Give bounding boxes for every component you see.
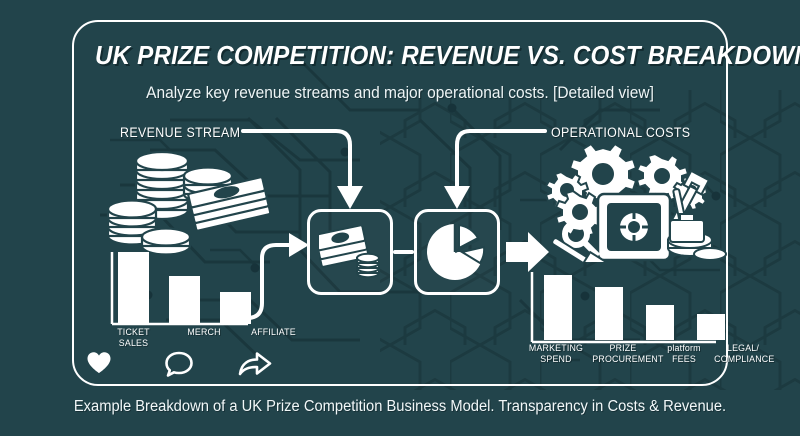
bar-platform-fees [646, 305, 674, 340]
coins-and-banknotes-icon [96, 150, 276, 255]
bar-prize-procurement [595, 287, 623, 340]
heart-icon[interactable] [86, 350, 112, 376]
bar-merch [169, 276, 200, 324]
tick-ticket-sales: TICKET SALES [107, 328, 160, 349]
tick-platform-fees: platform FEES [662, 344, 707, 365]
gears-safe-tools-icon [540, 140, 728, 262]
tick-marketing-spend: MARKETING SPEND [528, 344, 584, 365]
pie-chart-icon [426, 221, 488, 283]
tick-prize-procurement: PRIZE PROCUREMENT [592, 344, 653, 365]
bar-ticket-sales [118, 252, 149, 324]
arrowhead-down-pie [444, 186, 470, 209]
tick-affiliate: AFFILIATE [248, 328, 299, 349]
cost-bar-chart: MARKETING SPEND PRIZE PROCUREMENT platfo… [530, 272, 718, 340]
tick-merch: MERCH [184, 328, 225, 349]
footer-caption: Example Breakdown of a UK Prize Competit… [20, 398, 780, 416]
social-actions [86, 350, 276, 378]
share-arrow-icon[interactable] [238, 350, 272, 378]
pie-chart-icon-box[interactable] [414, 209, 500, 295]
infographic-canvas: UK PRIZE COMPETITION: REVENUE VS. COST B… [0, 0, 800, 436]
cash-stack-icon-box[interactable] [307, 209, 393, 295]
arrowhead-right-cash [289, 233, 309, 257]
tick-legal-compliance: LEGAL/ COMPLIANCE [714, 344, 772, 365]
bar-legal-compliance [697, 314, 725, 340]
revenue-bar-chart: TICKET SALES MERCH AFFILIATE [112, 252, 264, 324]
cash-stack-icon [319, 226, 381, 278]
bar-affiliate [220, 292, 251, 324]
arrowhead-down-cash [337, 186, 363, 209]
speech-bubble-icon[interactable] [164, 350, 194, 378]
bar-marketing-spend [544, 275, 572, 340]
